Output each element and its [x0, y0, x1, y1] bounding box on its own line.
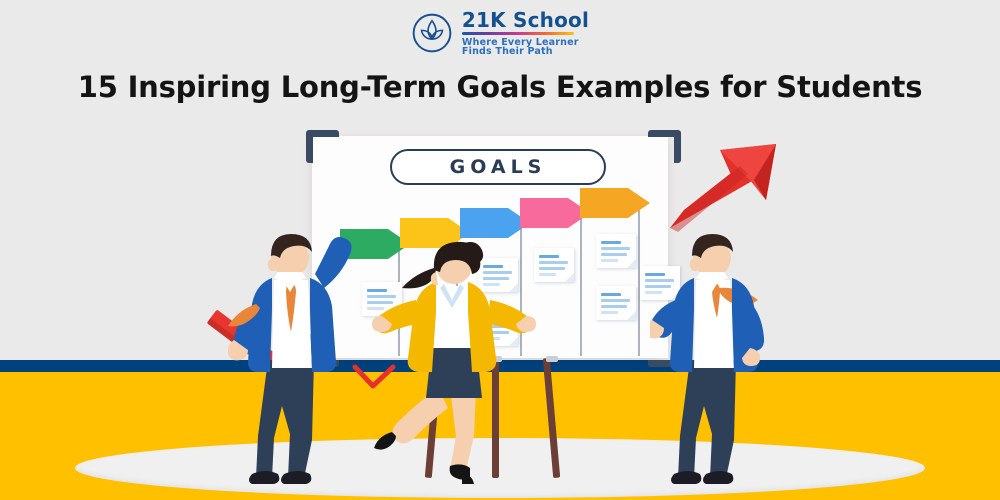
easel-leg-cap-right: [546, 356, 558, 362]
note-card: [596, 286, 636, 320]
person-man-right: [650, 228, 776, 486]
board-corner-top-left: [306, 130, 339, 163]
brand-name: 21K School: [462, 10, 589, 30]
brand-gradient-rule: [462, 32, 574, 35]
growth-arrow-icon: [666, 136, 782, 232]
page-title: 15 Inspiring Long-Term Goals Examples fo…: [0, 70, 1000, 104]
person-man-left: [228, 228, 354, 486]
note-card: [596, 234, 636, 268]
chevron-step-4: [520, 198, 568, 228]
chevron-step-5-tip: [628, 188, 650, 218]
goals-title-pill: GOALS: [390, 149, 606, 185]
board-rail-4: [580, 208, 582, 356]
note-card: [534, 248, 574, 282]
brand-tagline-line2: Finds Their Path: [462, 47, 589, 57]
goals-label: GOALS: [450, 156, 547, 178]
chevron-step-3: [460, 208, 508, 238]
brand-tagline: Where Every Learner Finds Their Path: [462, 38, 589, 57]
lotus-circle-logo-icon: [411, 12, 453, 54]
chevron-step-4-body: [520, 198, 568, 228]
brand-lockup: 21K School Where Every Learner Finds The…: [462, 10, 589, 57]
brand-logo[interactable]: 21K School Where Every Learner Finds The…: [0, 8, 1000, 58]
chevron-step-3-body: [460, 208, 508, 238]
chevron-step-5: [580, 188, 628, 218]
poster-canvas: 21K School Where Every Learner Finds The…: [0, 0, 1000, 500]
chevron-step-5-body: [580, 188, 628, 218]
person-woman-center: [372, 238, 536, 488]
